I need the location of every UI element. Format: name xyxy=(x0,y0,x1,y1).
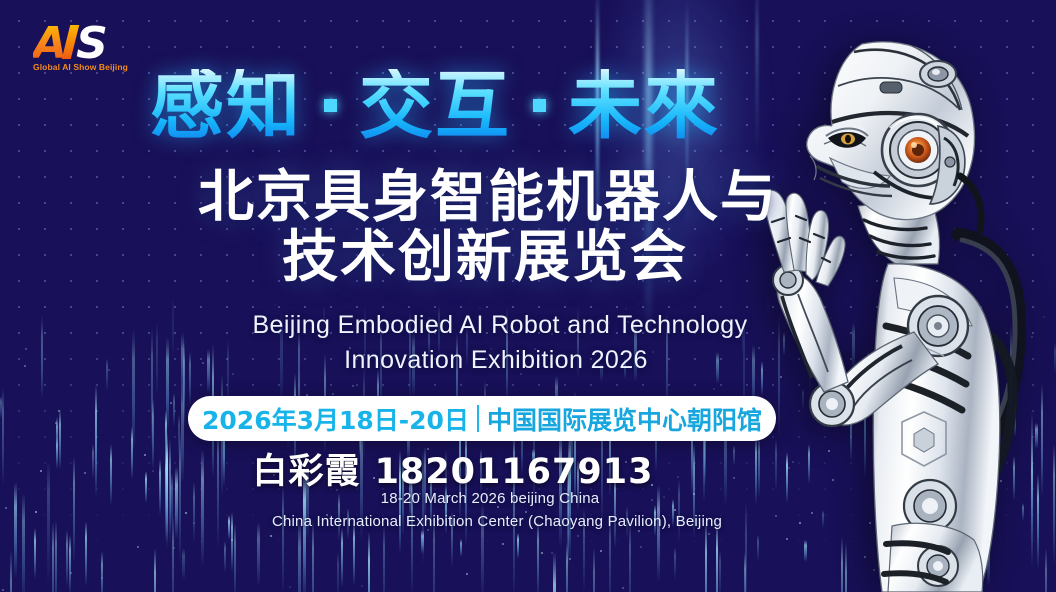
rain-streak xyxy=(537,521,539,592)
rain-streak xyxy=(719,550,721,592)
rain-streak xyxy=(577,305,579,378)
rain-spark xyxy=(427,529,429,531)
rain-streak xyxy=(280,309,283,402)
rain-spark xyxy=(625,308,627,310)
rain-spark xyxy=(466,573,468,575)
rain-streak xyxy=(577,326,579,354)
rain-streak xyxy=(323,305,325,331)
rain-spark xyxy=(108,369,110,371)
rain-spark xyxy=(696,296,698,298)
rain-streak xyxy=(716,352,719,385)
rain-streak xyxy=(228,515,230,540)
rain-streak xyxy=(466,324,468,367)
rain-streak xyxy=(624,358,626,379)
rain-spark xyxy=(651,499,653,501)
rain-streak xyxy=(705,519,707,592)
slogan-word-1: 感知 xyxy=(150,69,302,143)
rain-streak xyxy=(409,307,411,400)
rain-streak xyxy=(438,303,440,355)
rain-spark xyxy=(170,402,172,404)
rain-streak xyxy=(298,518,301,592)
rain-streak xyxy=(234,523,236,592)
rain-streak xyxy=(183,340,185,428)
rain-spark xyxy=(352,385,354,387)
contact-phone: 18201167913 xyxy=(375,452,654,492)
contact-overlay: 白彩霞18201167913 xyxy=(0,443,1056,494)
rain-streak xyxy=(282,485,284,592)
rain-streak xyxy=(22,493,25,592)
pill-divider xyxy=(477,405,479,432)
rain-streak xyxy=(506,305,508,403)
rain-streak xyxy=(106,358,108,392)
rain-streak xyxy=(52,522,54,592)
rain-streak xyxy=(745,501,747,592)
rain-spark xyxy=(523,500,525,502)
rain-streak xyxy=(207,349,210,393)
rain-spark xyxy=(70,572,72,574)
slogan-separator-2 xyxy=(533,99,546,112)
rain-spark xyxy=(361,585,363,587)
rain-spark xyxy=(173,547,175,549)
rain-streak xyxy=(189,351,191,406)
rain-spark xyxy=(569,558,571,560)
rain-streak xyxy=(173,393,175,426)
rain-streak xyxy=(34,528,36,580)
rain-spark xyxy=(332,393,334,395)
rain-streak xyxy=(716,520,718,592)
rain-spark xyxy=(497,506,499,508)
rain-streak xyxy=(383,525,385,592)
rain-streak xyxy=(428,315,430,357)
rain-spark xyxy=(459,524,461,526)
rain-streak xyxy=(626,506,628,539)
rain-spark xyxy=(25,348,27,350)
rain-spark xyxy=(101,577,103,579)
poster-canvas: A S Global AI Show Beijing 感知 交互 未來 北京具身… xyxy=(0,0,1056,592)
rain-streak xyxy=(182,548,185,582)
rain-spark xyxy=(289,586,291,588)
rain-spark xyxy=(638,530,640,532)
rain-spark xyxy=(541,552,543,554)
rain-streak xyxy=(312,519,314,592)
rain-streak xyxy=(744,552,746,592)
rain-spark xyxy=(5,507,7,509)
rain-spark xyxy=(525,511,527,513)
rain-streak xyxy=(172,293,174,355)
rain-streak xyxy=(347,508,349,540)
date-venue-pill: 2026年3月18日-20日 中国国际展览中心朝阳馆 xyxy=(188,396,776,441)
rain-streak xyxy=(151,326,153,449)
rain-spark xyxy=(193,522,195,524)
rain-streak xyxy=(224,541,226,574)
rain-streak xyxy=(368,532,370,592)
rain-streak xyxy=(172,514,174,592)
rain-streak xyxy=(10,550,12,592)
rain-spark xyxy=(495,293,497,295)
rain-streak xyxy=(166,336,169,432)
rain-streak xyxy=(583,508,585,592)
rain-streak xyxy=(364,303,366,377)
rain-spark xyxy=(551,552,553,554)
rain-streak xyxy=(412,331,415,398)
rain-spark xyxy=(663,496,665,498)
rain-streak xyxy=(337,552,339,592)
rain-streak xyxy=(257,522,260,587)
rain-streak xyxy=(101,551,103,592)
rain-streak xyxy=(181,332,184,399)
rain-streak xyxy=(553,552,556,592)
rain-streak xyxy=(353,522,355,586)
rain-streak xyxy=(481,503,484,592)
rain-spark xyxy=(137,546,139,548)
rain-streak xyxy=(69,535,71,592)
contact-name: 白彩霞 xyxy=(253,452,361,492)
rain-streak xyxy=(451,511,453,568)
rain-streak xyxy=(757,535,759,561)
rain-streak xyxy=(600,363,603,383)
ais-logo[interactable]: A S Global AI Show Beijing xyxy=(33,24,133,80)
rain-spark xyxy=(349,347,351,349)
rain-spark xyxy=(738,324,740,326)
rain-spark xyxy=(35,511,37,513)
rain-spark xyxy=(627,321,629,323)
rain-spark xyxy=(551,333,553,335)
slogan-word-3: 未來 xyxy=(568,69,720,143)
rain-spark xyxy=(652,351,654,353)
rain-spark xyxy=(622,587,624,589)
rain-spark xyxy=(713,388,715,390)
rain-spark xyxy=(520,373,522,375)
rain-spark xyxy=(502,543,504,545)
rain-streak xyxy=(14,482,17,579)
rain-streak xyxy=(85,521,87,587)
rain-spark xyxy=(303,295,305,297)
rain-streak xyxy=(338,493,340,541)
rain-spark xyxy=(393,293,395,295)
rain-streak xyxy=(421,530,424,553)
rain-spark xyxy=(326,514,328,516)
rain-spark xyxy=(640,546,642,548)
event-date: 2026年3月18日-20日 xyxy=(202,401,469,437)
rain-spark xyxy=(24,365,26,367)
rain-spark xyxy=(270,535,272,537)
rain-spark xyxy=(674,509,676,511)
rain-spark xyxy=(708,533,710,535)
rain-streak xyxy=(460,539,462,558)
rain-spark xyxy=(231,539,233,541)
rain-spark xyxy=(177,348,179,350)
rain-spark xyxy=(490,348,492,350)
rain-spark xyxy=(363,354,365,356)
rain-spark xyxy=(185,512,187,514)
rain-spark xyxy=(202,362,204,364)
rain-streak xyxy=(634,321,637,382)
rain-streak xyxy=(672,499,674,527)
rain-spark xyxy=(616,306,618,308)
rain-spark xyxy=(479,307,481,309)
rain-streak xyxy=(566,542,568,592)
rain-streak xyxy=(433,509,435,592)
rain-spark xyxy=(2,589,4,591)
rain-streak xyxy=(231,512,233,573)
rain-spark xyxy=(274,304,276,306)
rain-streak xyxy=(654,505,656,536)
rain-streak xyxy=(154,548,156,592)
rain-spark xyxy=(232,373,234,375)
logo-tagline: Global AI Show Beijing xyxy=(33,62,133,72)
rain-streak xyxy=(156,321,158,396)
rain-spark xyxy=(577,535,579,537)
rain-streak xyxy=(517,533,519,559)
rain-streak xyxy=(593,547,595,592)
rain-streak xyxy=(674,547,676,580)
slogan-word-2: 交互 xyxy=(359,69,511,143)
rain-streak xyxy=(742,321,745,355)
rain-streak xyxy=(609,514,611,592)
rain-spark xyxy=(58,410,60,412)
rain-streak xyxy=(132,327,135,453)
rain-streak xyxy=(629,520,631,592)
rain-streak xyxy=(41,314,43,400)
logo-letter-s: S xyxy=(76,24,106,64)
rain-streak xyxy=(341,528,343,588)
rain-spark xyxy=(55,422,57,424)
rain-streak xyxy=(55,520,57,592)
rain-spark xyxy=(40,293,42,295)
logo-letter-a: A xyxy=(33,24,65,64)
rain-streak xyxy=(66,530,68,588)
logo-wordmark: A S xyxy=(33,24,133,64)
rain-spark xyxy=(534,348,536,350)
rain-streak xyxy=(0,396,2,419)
rain-spark xyxy=(758,347,760,349)
slogan-row: 感知 交互 未來 xyxy=(150,58,810,153)
rain-spark xyxy=(608,322,610,324)
rain-streak xyxy=(657,485,660,583)
slogan-separator-1 xyxy=(324,99,337,112)
light-beam-2 xyxy=(646,0,651,343)
rain-spark xyxy=(638,303,640,305)
event-venue: 中国国际展览中心朝阳馆 xyxy=(487,401,762,437)
rain-spark xyxy=(600,550,602,552)
